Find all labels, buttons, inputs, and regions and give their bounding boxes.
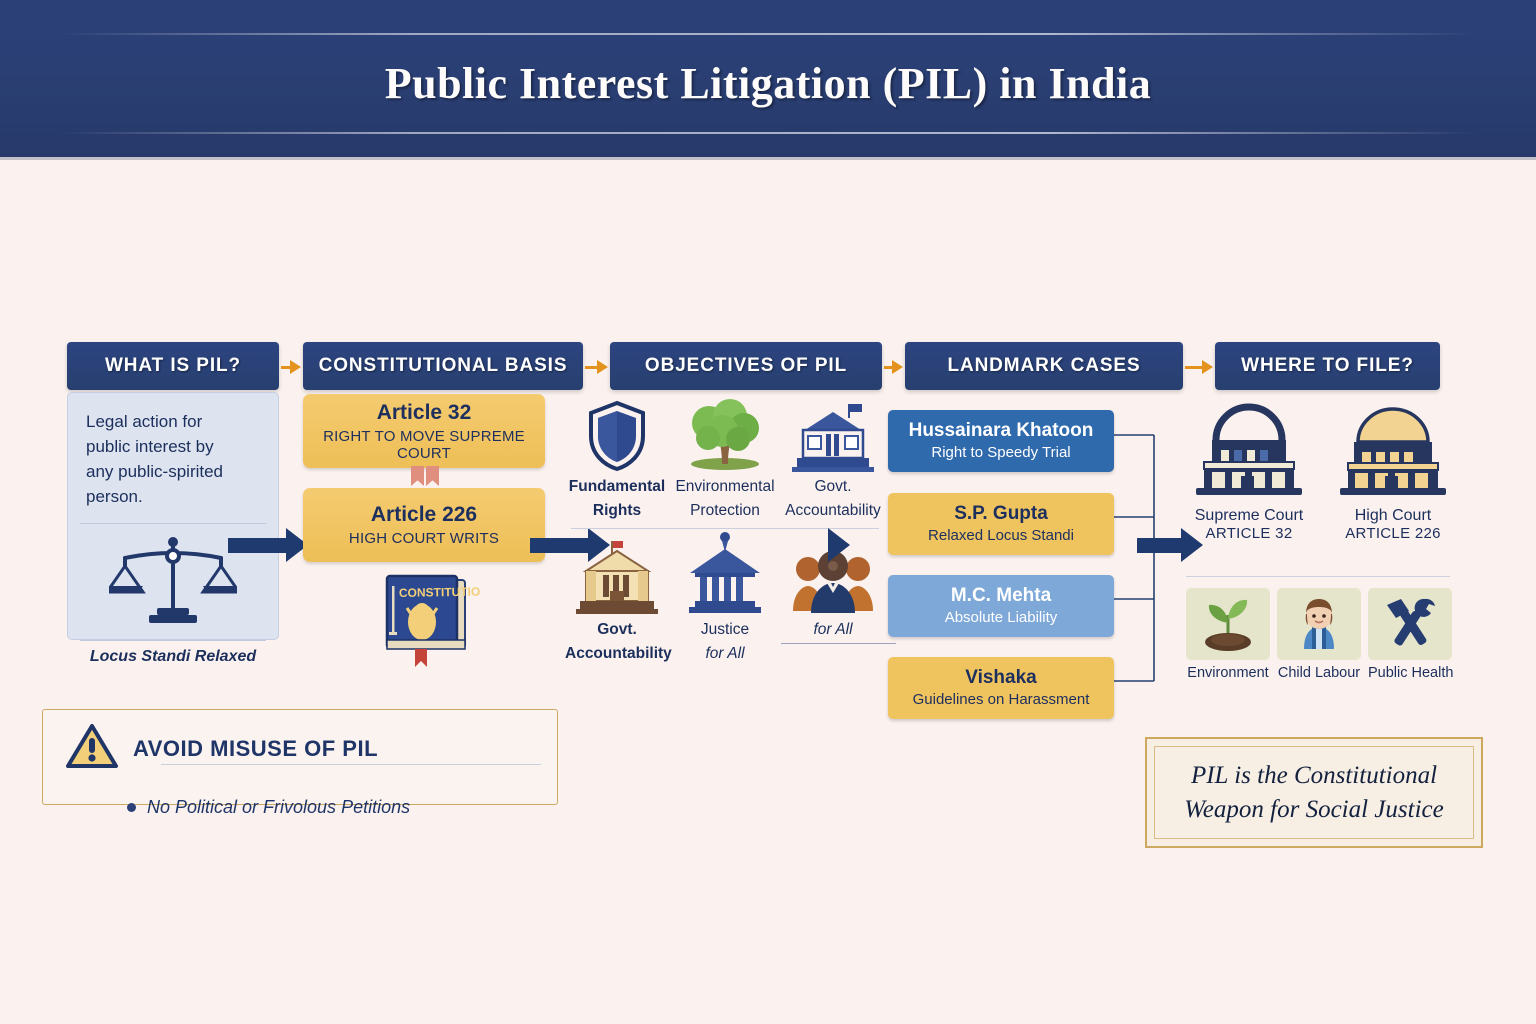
article-226-subtitle: HIGH COURT WRITS — [303, 530, 545, 547]
column-banner-objectives[interactable]: OBJECTIVES OF PIL — [610, 342, 882, 390]
constitution-book-icon: CONSTITUTION — [375, 570, 480, 675]
case-principle: Relaxed Locus Standi — [888, 526, 1114, 545]
objective-govt-accountability-bottom: Govt. Accountability — [565, 535, 669, 663]
flow-arrow-2-3 — [585, 362, 608, 372]
book-title-text: CONSTITUTION — [399, 584, 480, 600]
label-line-2: Rights — [565, 501, 669, 520]
tree-icon — [673, 392, 777, 472]
sapling-icon — [1186, 588, 1270, 660]
article-card-32[interactable]: Article 32 RIGHT TO MOVE SUPREME COURT — [303, 394, 545, 468]
label-line-1: Environmental — [673, 477, 777, 496]
ribbon-icon — [411, 466, 439, 486]
case-card-sp-gupta[interactable]: S.P. Gupta Relaxed Locus Standi — [888, 493, 1114, 555]
label-line-2: for All — [673, 644, 777, 663]
label-line-1: Fundamental — [565, 477, 669, 496]
label-line-1: for All — [781, 620, 885, 639]
objectives-row-1: Fundamental Rights Environmental Protect… — [565, 392, 885, 520]
hammer-wrench-icon — [1368, 588, 1452, 660]
divider-bottom — [80, 640, 266, 641]
objectives-underline — [781, 643, 896, 644]
quote-line-2: Weapon for Social Justice — [1184, 793, 1443, 827]
column-banner-where-to-file[interactable]: WHERE TO FILE? — [1215, 342, 1440, 390]
warning-triangle-icon — [65, 722, 119, 775]
flow-arrow-3-4 — [884, 362, 903, 372]
where-to-file-divider — [1186, 576, 1450, 577]
description-line-3: any public-spirited person. — [86, 459, 264, 509]
tile-child-labour[interactable]: Child Labour — [1277, 588, 1361, 681]
court-supreme[interactable]: Supreme Court ARTICLE 32 — [1186, 400, 1312, 542]
label-line-2: Protection — [673, 501, 777, 520]
label-line-1: Govt. — [781, 477, 885, 496]
objective-environmental-protection: Environmental Protection — [673, 392, 777, 520]
flow-arrow-4-5 — [1185, 362, 1213, 372]
tile-label: Environment — [1186, 665, 1270, 681]
courts-row: Supreme Court ARTICLE 32 H — [1186, 400, 1456, 542]
court-name: High Court — [1330, 507, 1456, 525]
tile-environment[interactable]: Environment — [1186, 588, 1270, 681]
navy-arrow-objectives-to-cases — [828, 528, 850, 562]
quote-text: PIL is the Constitutional Weapon for Soc… — [1184, 759, 1443, 827]
issue-tiles: Environment Child Labour — [1186, 588, 1452, 681]
divider-top — [80, 523, 266, 524]
warning-bullet-item: No Political or Frivolous Petitions — [43, 775, 557, 818]
article-32-subtitle: RIGHT TO MOVE SUPREME COURT — [303, 428, 545, 462]
objective-govt-accountability-top: Govt. Accountability — [781, 392, 885, 520]
case-name: Hussainara Khatoon — [888, 420, 1114, 442]
supreme-court-icon — [1186, 400, 1312, 501]
court-high[interactable]: High Court ARTICLE 226 — [1330, 400, 1456, 542]
locus-standi-caption: Locus Standi Relaxed — [68, 648, 278, 666]
column-banner-what-is-pil[interactable]: WHAT IS PIL? — [67, 342, 279, 390]
objective-fundamental-rights: Fundamental Rights — [565, 392, 669, 520]
tile-label: Public Health — [1368, 665, 1452, 681]
case-principle: Absolute Liability — [888, 608, 1114, 627]
header-rule-top — [60, 33, 1476, 35]
court-article: ARTICLE 32 — [1186, 525, 1312, 542]
label-line-1: Justice — [673, 620, 777, 639]
case-card-hussainara-khatoon[interactable]: Hussainara Khatoon Right to Speedy Trial — [888, 410, 1114, 472]
tile-label: Child Labour — [1277, 665, 1361, 681]
bullet-dot-icon — [127, 803, 136, 812]
court-article: ARTICLE 226 — [1330, 525, 1456, 542]
case-name: S.P. Gupta — [888, 503, 1114, 525]
quote-line-1: PIL is the Constitutional — [1184, 759, 1443, 793]
header-rule-bottom — [60, 132, 1476, 134]
navy-arrow-what-to-basis — [228, 528, 308, 562]
page-title: Public Interest Litigation (PIL) in Indi… — [0, 58, 1536, 109]
case-principle: Guidelines on Harassment — [888, 690, 1114, 709]
flow-arrow-1-2 — [281, 362, 301, 372]
article-226-title: Article 226 — [303, 503, 545, 527]
government-building-icon — [781, 392, 885, 472]
case-card-mc-mehta[interactable]: M.C. Mehta Absolute Liability — [888, 575, 1114, 637]
warning-bullet-text: No Political or Frivolous Petitions — [147, 797, 410, 818]
label-line-2: Accountability — [781, 501, 885, 520]
article-32-title: Article 32 — [303, 401, 545, 425]
label-line-2: Accountability — [565, 644, 669, 663]
tile-public-health[interactable]: Public Health — [1368, 588, 1452, 681]
column-banner-constitutional-basis[interactable]: CONSTITUTIONAL BASIS — [303, 342, 583, 390]
case-card-vishaka[interactable]: Vishaka Guidelines on Harassment — [888, 657, 1114, 719]
case-principle: Right to Speedy Trial — [888, 443, 1114, 462]
closing-quote-box: PIL is the Constitutional Weapon for Soc… — [1145, 737, 1483, 848]
warning-title: AVOID MISUSE OF PIL — [133, 736, 378, 762]
what-is-pil-panel: Legal action for public interest by any … — [67, 392, 279, 640]
high-court-icon — [1330, 400, 1456, 501]
label-line-1: Govt. — [565, 620, 669, 639]
case-name: Vishaka — [888, 667, 1114, 689]
description-line-2: public interest by — [86, 434, 264, 459]
article-card-226[interactable]: Article 226 HIGH COURT WRITS — [303, 488, 545, 562]
column-banner-landmark-cases[interactable]: LANDMARK CASES — [905, 342, 1183, 390]
child-icon — [1277, 588, 1361, 660]
courthouse-beige-icon — [565, 535, 669, 615]
what-is-pil-description: Legal action for public interest by any … — [68, 393, 278, 509]
header-underline — [0, 157, 1536, 160]
description-line-1: Legal action for — [86, 409, 264, 434]
court-name: Supreme Court — [1186, 507, 1312, 525]
warning-header: AVOID MISUSE OF PIL — [43, 710, 557, 775]
shield-icon — [565, 392, 669, 472]
warning-divider — [161, 764, 541, 765]
avoid-misuse-box: AVOID MISUSE OF PIL No Political or Friv… — [42, 709, 558, 805]
pin-icon — [715, 532, 735, 559]
case-name: M.C. Mehta — [888, 585, 1114, 607]
